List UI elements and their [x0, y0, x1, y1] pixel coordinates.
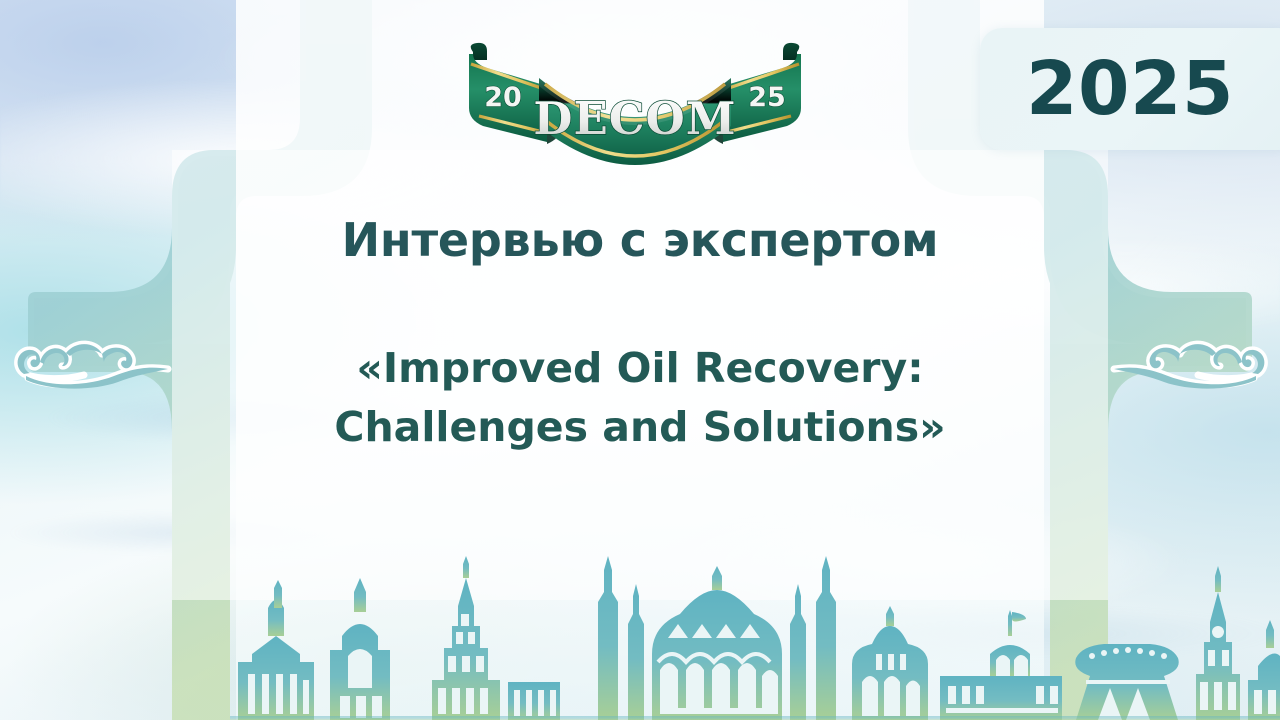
skyline-shapes	[230, 556, 1280, 720]
tatar-cloud-ornament-right-icon	[1102, 322, 1272, 398]
year-badge: 2025	[980, 28, 1280, 150]
right-cathedral	[1248, 620, 1280, 720]
presentation-slide: 20 25 DECOM 2025 Интервью с экспертом «I…	[0, 0, 1280, 720]
palace-building	[940, 610, 1062, 720]
slide-subtitle: «Improved Oil Recovery: Challenges and S…	[195, 339, 1085, 458]
slide-title-ru: Интервью с экспертом	[195, 215, 1085, 267]
kazan-family-centre	[1075, 644, 1178, 720]
logo-left-year: 20	[484, 82, 522, 113]
annunciation-cathedral	[852, 606, 928, 720]
year-badge-value: 2025	[1026, 46, 1234, 132]
slide-text-block: Интервью с экспертом «Improved Oil Recov…	[195, 215, 1085, 457]
logo-center-band: DECOM	[533, 78, 736, 165]
kul-sharif-mosque	[598, 556, 836, 720]
spasskaya-tower	[1196, 566, 1240, 720]
decom-logo: 20 25 DECOM	[455, 30, 815, 180]
logo-right-year: 25	[748, 82, 786, 113]
slide-subtitle-line-1: «Improved Oil Recovery:	[195, 339, 1085, 398]
kazan-skyline-silhouette	[0, 530, 1280, 720]
tatar-cloud-ornament-left-icon	[10, 322, 180, 398]
slide-subtitle-line-2: Challenges and Solutions»	[195, 398, 1085, 457]
logo-wordmark: DECOM	[533, 92, 736, 145]
